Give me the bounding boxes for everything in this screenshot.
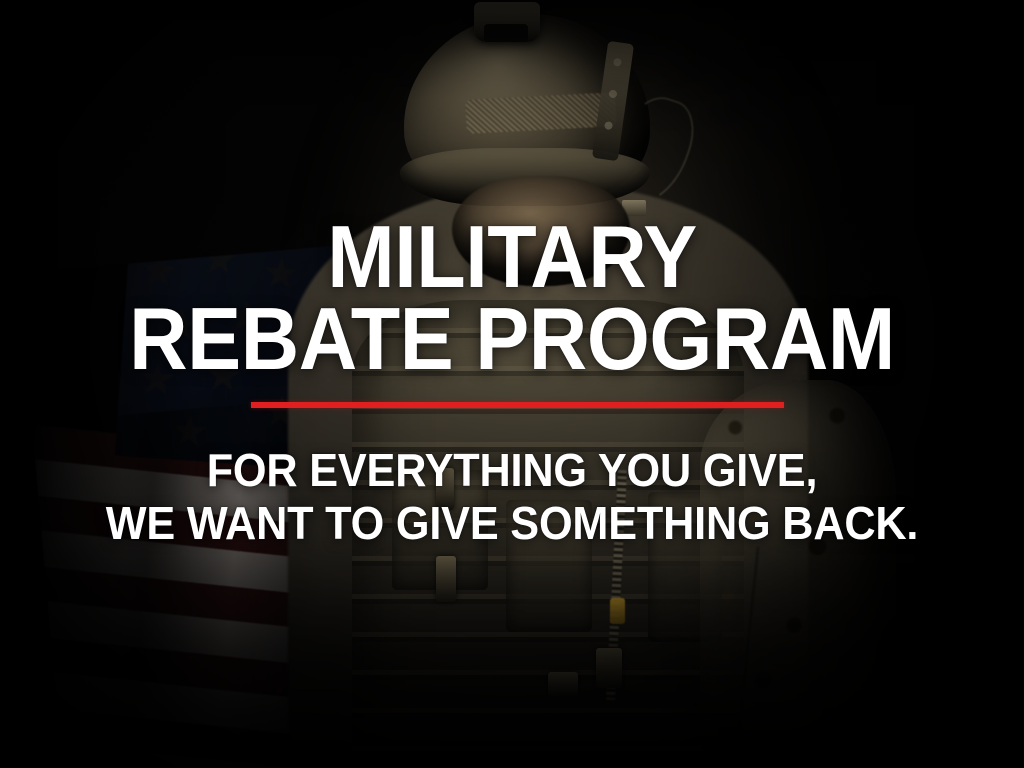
rail-fastener — [613, 58, 622, 67]
vest-pouch — [506, 500, 592, 632]
vest-buckle — [548, 672, 578, 696]
vest-buckle — [436, 468, 454, 510]
marpat-camo-sleeve — [700, 380, 896, 768]
camo-face-gaiter — [452, 176, 630, 286]
gear-accent-tab — [610, 598, 625, 624]
digital-camo-pattern — [700, 380, 896, 768]
military-rebate-poster: MILITARY REBATE PROGRAM FOR EVERYTHING Y… — [0, 0, 1024, 768]
soldier-background-photo — [0, 0, 1024, 768]
rail-fastener — [608, 89, 617, 98]
rail-fastener — [604, 121, 613, 130]
vest-buckle — [436, 556, 456, 602]
vest-buckle — [596, 648, 622, 688]
nvg-mount-icon — [474, 2, 540, 42]
